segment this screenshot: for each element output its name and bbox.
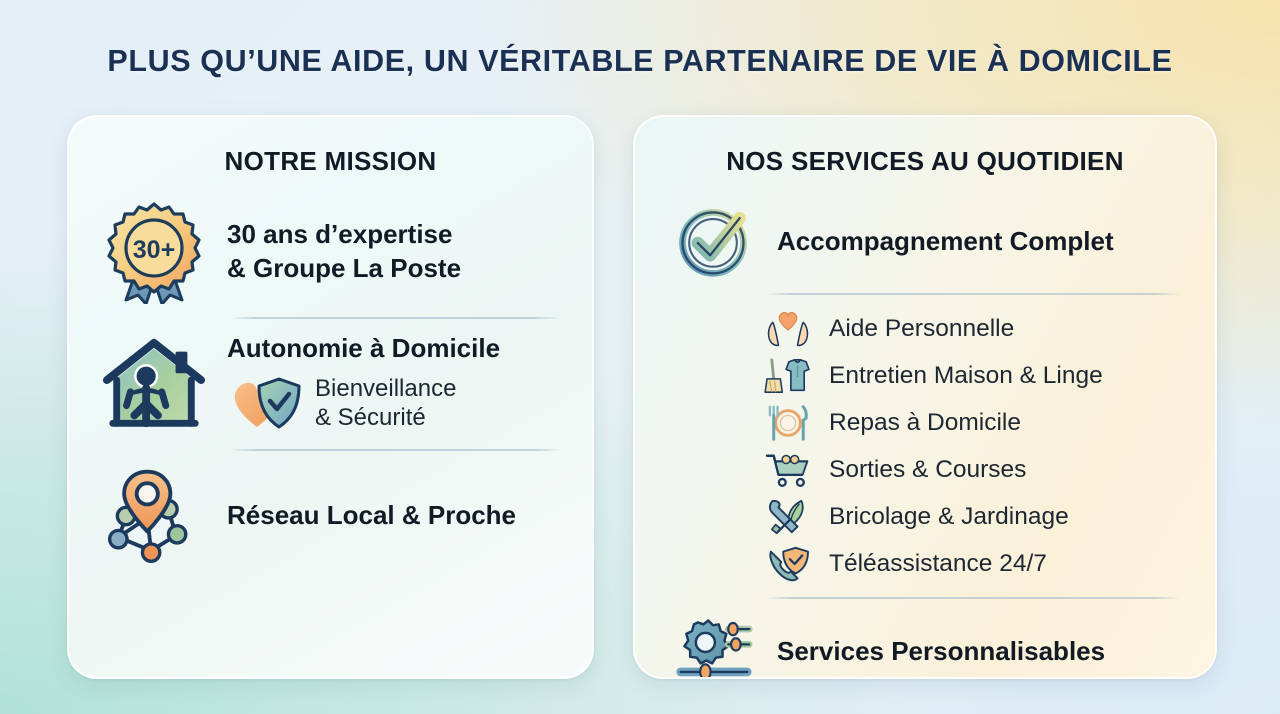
mission-item-autonomie-body: Autonomie à Domicile: [227, 332, 500, 437]
mission-divider-1: [231, 317, 560, 319]
services-heading-accompagnement-label: Accompagnement Complet: [777, 226, 1114, 257]
hands-heart-icon: [761, 308, 815, 350]
mission-autonomie-sub: Bienveillance & Sécurité: [227, 369, 500, 436]
services-heading-accompagnement: Accompagnement Complet: [635, 199, 1215, 283]
mission-item-expertise: 30+ 30 ans d’expertise & Groupe La Poste: [69, 199, 592, 305]
service-item-aide-personnelle[interactable]: Aide Personnelle: [761, 305, 1189, 352]
service-item-label: Téléassistance 24/7: [829, 550, 1047, 578]
phone-shield-icon: [761, 543, 815, 585]
service-item-bricolage-jardinage[interactable]: Bricolage & Jardinage: [761, 493, 1189, 540]
services-heading-personnalisables-label: Services Personnalisables: [777, 636, 1105, 667]
mission-card: NOTRE MISSION: [67, 115, 594, 679]
services-divider-top: [767, 293, 1179, 295]
gear-sliders-icon: [671, 609, 755, 679]
service-item-teleassistance[interactable]: Téléassistance 24/7: [761, 540, 1189, 587]
mission-reseau-line-1: Réseau Local & Proche: [227, 499, 516, 533]
award-badge-30plus-icon: 30+: [101, 199, 207, 305]
mission-item-expertise-text: 30 ans d’expertise & Groupe La Poste: [227, 218, 461, 286]
service-item-entretien-maison-linge[interactable]: Entretien Maison & Linge: [761, 352, 1189, 399]
network-location-pin-icon: [101, 463, 207, 569]
house-person-icon: [101, 331, 207, 437]
mission-item-reseau: Réseau Local & Proche: [69, 463, 592, 569]
services-card-title: NOS SERVICES AU QUOTIDIEN: [635, 146, 1215, 177]
service-item-label: Aide Personnelle: [829, 315, 1014, 343]
plate-cutlery-icon: [761, 402, 815, 444]
heart-shield-check-icon: [227, 369, 303, 436]
mission-autonomie-title: Autonomie à Domicile: [227, 332, 500, 366]
services-card: NOS SERVICES AU QUOTIDIEN: [633, 115, 1217, 679]
service-item-label: Entretien Maison & Linge: [829, 362, 1103, 390]
circle-check-icon: [671, 199, 755, 283]
mission-divider-2: [231, 449, 560, 451]
broom-shirt-icon: [761, 355, 815, 397]
service-item-sorties-courses[interactable]: Sorties & Courses: [761, 446, 1189, 493]
mission-item-autonomie: Autonomie à Domicile: [69, 331, 592, 437]
wrench-leaf-icon: [761, 496, 815, 538]
page-title: PLUS QU’UNE AIDE, UN VÉRITABLE PARTENAIR…: [0, 44, 1280, 79]
mission-expertise-line-2: & Groupe La Poste: [227, 252, 461, 286]
shopping-cart-icon: [761, 449, 815, 491]
mission-autonomie-sub-line-2: & Sécurité: [315, 403, 456, 432]
mission-card-title: NOTRE MISSION: [69, 146, 592, 177]
service-item-label: Sorties & Courses: [829, 456, 1026, 484]
mission-expertise-line-1: 30 ans d’expertise: [227, 218, 461, 252]
badge-number-text: 30+: [133, 236, 175, 264]
mission-autonomie-sub-line-1: Bienveillance: [315, 374, 456, 403]
services-divider-bottom: [767, 597, 1179, 599]
mission-autonomie-sub-text: Bienveillance & Sécurité: [315, 374, 456, 433]
services-list: Aide Personnelle Entretien Maison & Ling…: [635, 305, 1215, 587]
service-item-label: Bricolage & Jardinage: [829, 503, 1069, 531]
mission-autonomie-line-1: Autonomie à Domicile: [227, 332, 500, 366]
service-item-repas-a-domicile[interactable]: Repas à Domicile: [761, 399, 1189, 446]
services-heading-personnalisables: Services Personnalisables: [635, 609, 1215, 679]
service-item-label: Repas à Domicile: [829, 409, 1021, 437]
mission-item-reseau-text: Réseau Local & Proche: [227, 499, 516, 533]
